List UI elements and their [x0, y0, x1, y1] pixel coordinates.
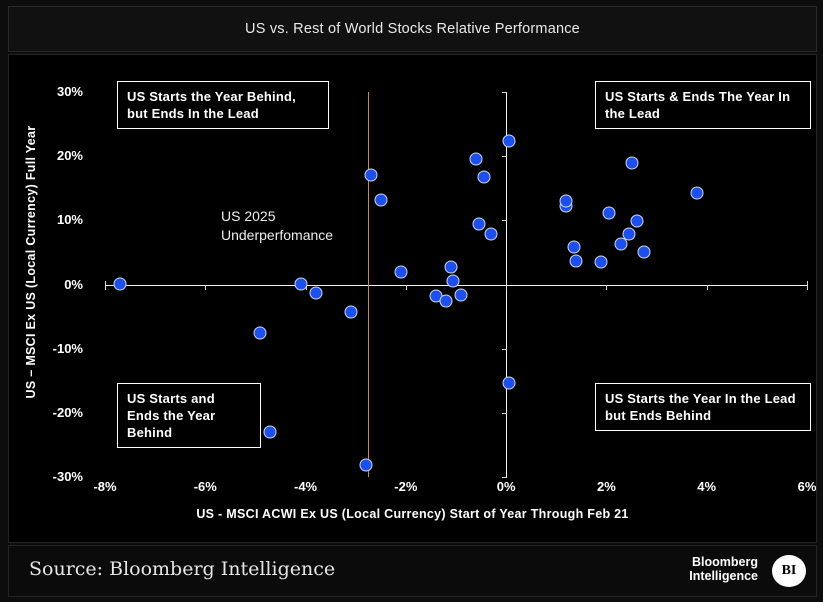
bloomberg-logo: Bloomberg Intelligence [689, 555, 758, 583]
x-axis-tick-label: -8% [75, 479, 135, 494]
x-axis-tick-label: -4% [276, 479, 336, 494]
callout-top-left: US Starts the Year Behind, but Ends In t… [117, 81, 329, 129]
y-axis-tick-label: 30% [23, 84, 83, 99]
marker-note-line-2: Underperfomance [221, 226, 333, 245]
data-point[interactable] [364, 169, 377, 182]
data-point[interactable] [447, 274, 460, 287]
data-point[interactable] [630, 214, 643, 227]
data-point[interactable] [595, 256, 608, 269]
y-axis-tick-label: -20% [23, 405, 83, 420]
data-point[interactable] [344, 306, 357, 319]
bi-badge-icon: BI [772, 555, 806, 587]
data-point[interactable] [472, 218, 485, 231]
callout-bottom-right: US Starts the Year In the Lead but Ends … [595, 383, 811, 431]
y-axis-tick-label: -10% [23, 341, 83, 356]
y-axis-tick-label: -30% [23, 469, 83, 484]
us-2025-marker-line [368, 92, 369, 477]
chart-screenshot: US vs. Rest of World Stocks Relative Per… [0, 0, 823, 602]
data-point[interactable] [485, 228, 498, 241]
x-axis-tick-mark [406, 285, 407, 290]
data-point[interactable] [625, 157, 638, 170]
page-title: US vs. Rest of World Stocks Relative Per… [245, 21, 580, 37]
data-point[interactable] [638, 246, 651, 259]
x-axis-tick-mark [707, 285, 708, 290]
data-point[interactable] [560, 195, 573, 208]
data-point[interactable] [264, 426, 277, 439]
data-point[interactable] [690, 187, 703, 200]
brand-line-2: Intelligence [689, 569, 758, 583]
x-axis-tick-label: 4% [677, 479, 737, 494]
scatter-plot-area: US – MSCI Ex US (Local Currency) Full Ye… [9, 55, 816, 542]
x-axis-tick-label: 2% [576, 479, 636, 494]
y-axis-tick-label: 20% [23, 148, 83, 163]
x-axis-tick-mark [506, 285, 507, 290]
footer-bar: Source: Bloomberg Intelligence Bloomberg… [8, 545, 817, 597]
data-point[interactable] [394, 265, 407, 278]
marker-note: US 2025Underperfomance [221, 207, 333, 245]
data-point[interactable] [470, 152, 483, 165]
data-point[interactable] [502, 376, 515, 389]
data-point[interactable] [254, 326, 267, 339]
title-bar: US vs. Rest of World Stocks Relative Per… [8, 6, 817, 52]
data-point[interactable] [455, 289, 468, 302]
source-text: Source: Bloomberg Intelligence [29, 558, 335, 580]
x-axis-tick-label: -2% [376, 479, 436, 494]
data-point[interactable] [359, 459, 372, 472]
x-axis-tick-label: -6% [175, 479, 235, 494]
callout-top-right: US Starts & Ends The Year In the Lead [595, 81, 811, 129]
x-axis-tick-label: 0% [476, 479, 536, 494]
y-axis-tick-mark [502, 349, 507, 350]
data-point[interactable] [477, 170, 490, 183]
data-point[interactable] [570, 254, 583, 267]
data-point[interactable] [444, 261, 457, 274]
x-axis-tick-mark [807, 285, 808, 290]
data-point[interactable] [294, 277, 307, 290]
y-axis-tick-mark [502, 413, 507, 414]
callout-bottom-left: US Starts and Ends the Year Behind [117, 383, 261, 448]
data-point[interactable] [622, 228, 635, 241]
y-axis-tick-mark [502, 477, 507, 478]
brand-line-1: Bloomberg [689, 555, 758, 569]
x-axis-label: US - MSCI ACWI Ex US (Local Currency) St… [9, 507, 816, 521]
x-axis-tick-mark [606, 285, 607, 290]
chart-panel: US – MSCI Ex US (Local Currency) Full Ye… [8, 54, 817, 543]
data-point[interactable] [502, 134, 515, 147]
y-axis-tick-mark [502, 156, 507, 157]
y-axis-tick-label: 10% [23, 212, 83, 227]
x-axis-tick-label: 6% [777, 479, 823, 494]
data-point[interactable] [567, 240, 580, 253]
data-point[interactable] [374, 193, 387, 206]
y-axis-tick-label: 0% [23, 277, 83, 292]
y-axis-tick-mark [502, 220, 507, 221]
x-axis-tick-mark [105, 285, 106, 290]
y-axis-tick-mark [502, 92, 507, 93]
data-point[interactable] [602, 207, 615, 220]
marker-note-line-1: US 2025 [221, 207, 333, 226]
y-axis-label: US – MSCI Ex US (Local Currency) Full Ye… [24, 62, 38, 462]
x-axis-tick-mark [205, 285, 206, 290]
data-point[interactable] [439, 295, 452, 308]
data-point[interactable] [309, 286, 322, 299]
data-point[interactable] [114, 277, 127, 290]
